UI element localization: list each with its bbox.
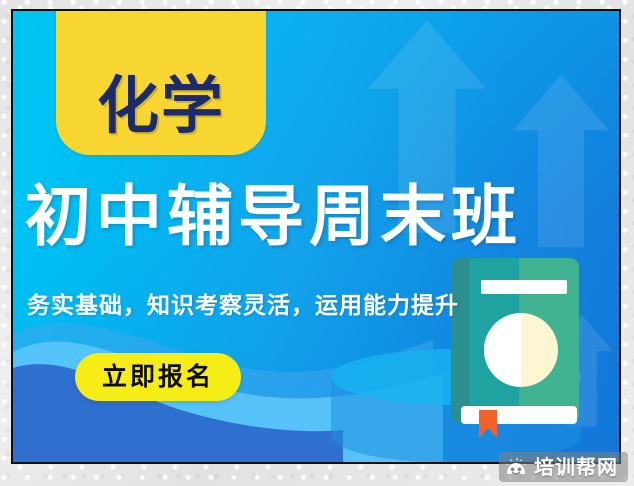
subject-badge: 化学 <box>56 11 266 155</box>
course-promo-banner: 化学 初中辅导周末班 务实基础，知识考察灵活，运用能力提升 立即报名 <box>11 9 621 464</box>
banner-headline: 初中辅导周末班 <box>25 183 599 251</box>
smiley-sun-icon <box>505 457 527 477</box>
subject-badge-label: 化学 <box>56 75 266 137</box>
banner-canvas: 化学 初中辅导周末班 务实基础，知识考察灵活，运用能力提升 立即报名 <box>13 11 619 462</box>
book-illustration <box>451 254 583 438</box>
signup-button-label: 立即报名 <box>75 353 241 401</box>
banner-subtitle: 务实基础，知识考察灵活，运用能力提升 <box>27 293 459 321</box>
site-watermark-label: 培训帮网 <box>534 457 618 477</box>
signup-button[interactable]: 立即报名 <box>75 353 241 401</box>
book-pages <box>461 406 577 424</box>
book-bookmark <box>479 410 497 438</box>
site-watermark: 培训帮网 <box>499 452 628 482</box>
book-title-stripe <box>481 280 567 294</box>
